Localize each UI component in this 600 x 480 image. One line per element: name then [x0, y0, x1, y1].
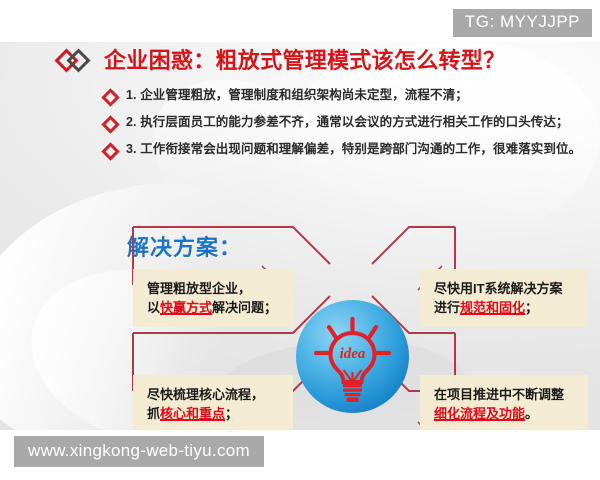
solution-box-line-2: 细化流程及功能。 [434, 404, 574, 423]
slide-canvas: 企业困惑：粗放式管理模式该怎么转型？ 1. 企业管理粗放，管理制度和组织架构尚未… [0, 42, 600, 430]
solution-box-bottom-right: 在项目推进中不断调整 细化流程及功能。 [420, 375, 588, 430]
solution-box-line-1: 管理粗放型企业， [147, 279, 279, 298]
line-suffix: 。 [525, 406, 538, 421]
solution-box-line-1: 在项目推进中不断调整 [434, 385, 574, 404]
line-suffix: 解决问题； [212, 300, 277, 315]
line-prefix: 抓 [147, 406, 160, 421]
line-suffix: ； [225, 406, 238, 421]
solution-box-top-right: 尽快用IT系统解决方案 进行规范和固化； [420, 269, 588, 327]
solution-box-bottom-left: 尽快梳理核心流程， 抓核心和重点； [133, 375, 293, 430]
site-watermark: www.xingkong-web-tiyu.com [14, 436, 264, 467]
line-prefix: 进行 [434, 300, 460, 315]
lightbulb-icon: idea [296, 300, 409, 413]
solution-box-line-2: 进行规范和固化； [434, 298, 574, 317]
tg-watermark-tag: TG: MYYJJPP [453, 9, 592, 37]
highlighted-phrase: 细化流程及功能 [434, 406, 525, 421]
idea-bulb-graphic: idea [296, 300, 409, 413]
solution-box-line-1: 尽快用IT系统解决方案 [434, 279, 574, 298]
line-suffix: ； [525, 300, 538, 315]
solution-box-top-left: 管理粗放型企业， 以快赢方式解决问题； [133, 269, 293, 327]
solution-box-line-1: 尽快梳理核心流程， [147, 385, 279, 404]
slide-image: TG: MYYJJPP 企业困惑：粗放式管理模式该怎么转型？ 1. 企业管理粗放… [0, 0, 600, 480]
highlighted-phrase: 规范和固化 [460, 300, 525, 315]
line-prefix: 以 [147, 300, 160, 315]
highlighted-phrase: 快赢方式 [160, 300, 212, 315]
solution-box-line-2: 抓核心和重点； [147, 404, 279, 423]
idea-label: idea [340, 346, 366, 362]
solution-box-line-2: 以快赢方式解决问题； [147, 298, 279, 317]
highlighted-phrase: 核心和重点 [160, 406, 225, 421]
